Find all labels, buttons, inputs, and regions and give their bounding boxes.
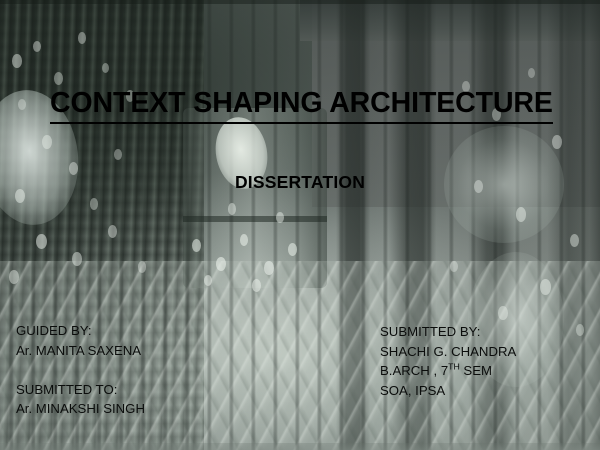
submitted-to-name: Ar. MINAKSHI SINGH xyxy=(16,399,145,419)
page-title: CONTEXT SHAPING ARCHITECTURE xyxy=(50,88,553,124)
background-cylinder-band xyxy=(183,216,327,222)
course-prefix: B.ARCH , 7 xyxy=(380,363,448,378)
credits-left-block: GUIDED BY: Ar. MANITA SAXENA SUBMITTED T… xyxy=(16,321,145,419)
submitted-by-label: SUBMITTED BY: xyxy=(380,322,516,342)
course-ordinal: TH xyxy=(448,362,460,372)
credits-right-block: SUBMITTED BY: SHACHI G. CHANDRA B.ARCH ,… xyxy=(380,322,516,400)
course-semester: B.ARCH , 7TH SEM xyxy=(380,361,516,381)
slide-subtitle: DISSERTATION xyxy=(0,172,600,193)
presentation-slide: CONTEXT SHAPING ARCHITECTURE DISSERTATIO… xyxy=(0,0,600,450)
student-name: SHACHI G. CHANDRA xyxy=(380,342,516,362)
title-block: CONTEXT SHAPING ARCHITECTURE xyxy=(50,88,550,124)
guided-by-name: Ar. MANITA SAXENA xyxy=(16,341,145,361)
credits-left-spacer xyxy=(16,360,145,380)
background-top-edge xyxy=(0,0,600,4)
guided-by-label: GUIDED BY: xyxy=(16,321,145,341)
background-bottom-edge xyxy=(0,443,600,450)
submitted-to-label: SUBMITTED TO: xyxy=(16,380,145,400)
course-suffix: SEM xyxy=(460,363,492,378)
institution: SOA, IPSA xyxy=(380,381,516,401)
